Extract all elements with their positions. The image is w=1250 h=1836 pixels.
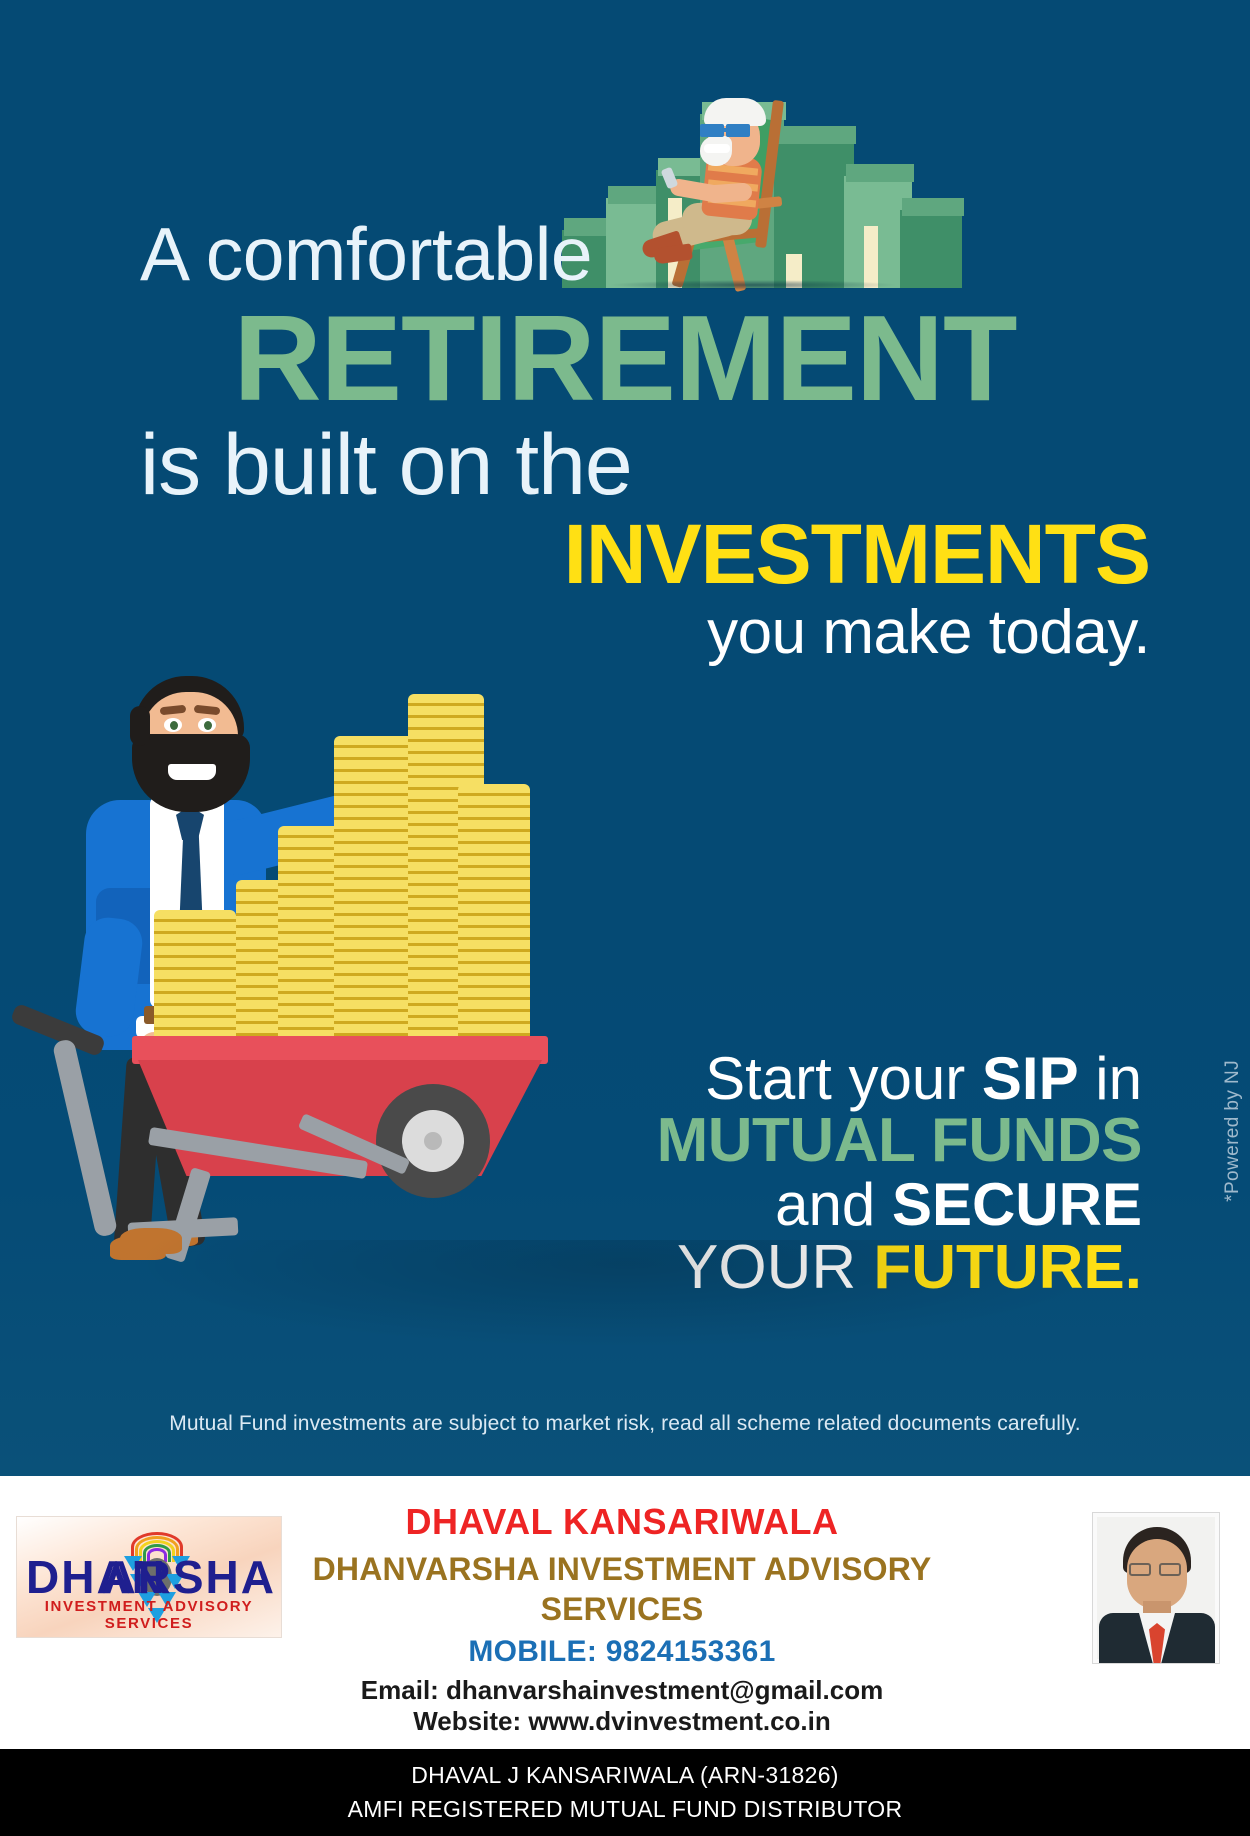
email-address[interactable]: Email: dhanvarshainvestment@gmail.com [286, 1675, 958, 1707]
footer-amfi-line: AMFI REGISTERED MUTUAL FUND DISTRIBUTOR [348, 1793, 903, 1826]
cta-line-2-mutual-funds: MUTUAL FUNDS [602, 1109, 1142, 1173]
firm-name: DHANVARSHA INVESTMENT ADVISORY SERVICES [286, 1549, 958, 1629]
retirement-mutual-fund-poster: A comfortable RETIREMENT is built on the… [0, 0, 1250, 1836]
cta-secure-bold: SECURE [892, 1171, 1142, 1238]
cta-line-1: Start your SIP in [602, 1048, 1142, 1109]
hero-vignette [0, 1240, 1250, 1476]
contact-band: DHAN ARSHA INVESTMENT ADVISORY SERVICES … [0, 1476, 1250, 1749]
headline-line-1: A comfortable [0, 215, 1250, 295]
mobile-number[interactable]: MOBILE: 9824153361 [286, 1633, 958, 1671]
logo-word-arsha: ARSHA [102, 1550, 276, 1604]
advisor-name: DHAVAL KANSARIWALA [286, 1500, 958, 1543]
investment-illustration [28, 588, 548, 1228]
dhanvarsha-logo: DHAN ARSHA INVESTMENT ADVISORY SERVICES [16, 1516, 282, 1638]
contact-details: DHAVAL KANSARIWALA DHANVARSHA INVESTMENT… [286, 1500, 958, 1738]
logo-tagline: INVESTMENT ADVISORY SERVICES [16, 1598, 282, 1632]
website-url[interactable]: Website: www.dvinvestment.co.in [286, 1706, 958, 1738]
cta-line1-plain-b: in [1079, 1045, 1142, 1112]
footer-arn-line: DHAVAL J KANSARIWALA (ARN-31826) [411, 1759, 839, 1792]
risk-disclaimer: Mutual Fund investments are subject to m… [0, 1412, 1250, 1436]
advisor-portrait-photo [1092, 1512, 1220, 1664]
cta-line-3: and SECURE [602, 1174, 1142, 1236]
footer-bar: DHAVAL J KANSARIWALA (ARN-31826) AMFI RE… [0, 1749, 1250, 1836]
cta-line3-plain: and [775, 1171, 892, 1238]
headline-line-4-investments: INVESTMENTS [0, 512, 1250, 596]
powered-by-label: *Powered by NJ [1222, 1060, 1244, 1202]
cta-line1-plain-a: Start your [705, 1045, 982, 1112]
hero-section: A comfortable RETIREMENT is built on the… [0, 0, 1250, 1476]
cta-sip-bold: SIP [982, 1045, 1079, 1112]
headline-line-3: is built on the [0, 422, 1250, 510]
headline-line-2-retirement: RETIREMENT [0, 301, 1250, 417]
